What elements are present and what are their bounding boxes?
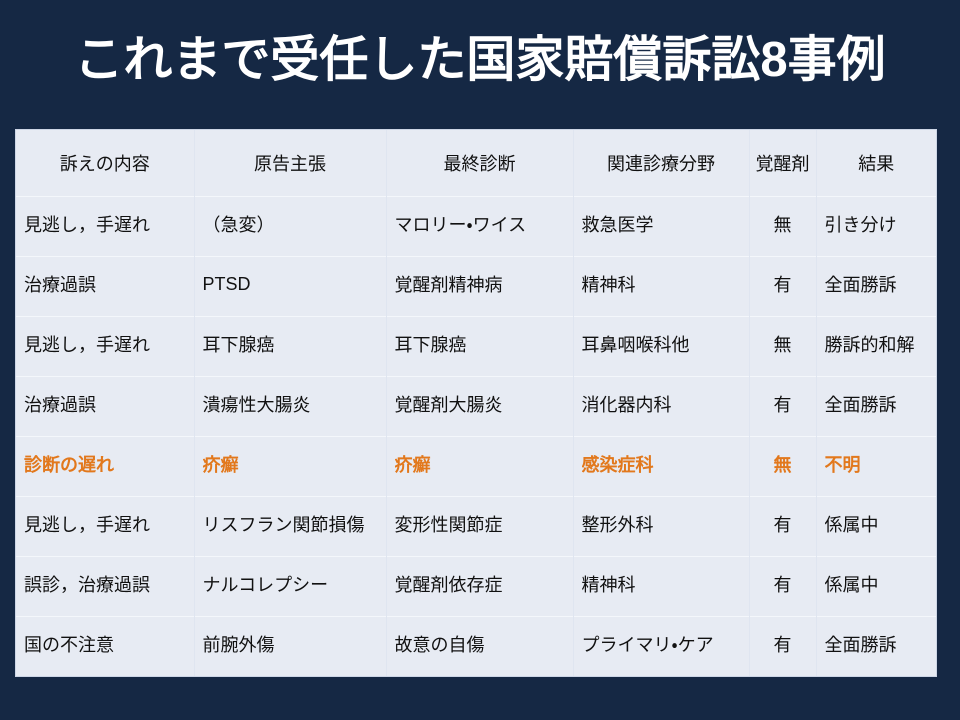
column-header-medical-field: 関連診療分野 bbox=[573, 130, 749, 197]
cell-text: 誤診，治療過誤 bbox=[24, 571, 150, 597]
cell-text: 前腕外傷 bbox=[203, 631, 275, 657]
cell-text: 全面勝訴 bbox=[825, 391, 897, 417]
table-row: 見逃し，手遅れリスフラン関節損傷変形性関節症整形外科有係属中 bbox=[16, 497, 936, 557]
table-cell: 消化器内科 bbox=[573, 377, 749, 437]
column-header-stimulant: 覚醒剤 bbox=[749, 130, 816, 197]
cell-text: 有 bbox=[774, 271, 792, 297]
table-cell: 見逃し，手遅れ bbox=[16, 497, 194, 557]
lawsuit-cases-table: 訴えの内容 原告主張 最終診断 関連診療分野 覚醒剤 結果 見逃し，手遅れ（急変… bbox=[16, 130, 936, 676]
table-row: 見逃し，手遅れ耳下腺癌耳下腺癌耳鼻咽喉科他無勝訴的和解 bbox=[16, 317, 936, 377]
table-cell: 前腕外傷 bbox=[194, 617, 386, 677]
table-cell: 耳下腺癌 bbox=[194, 317, 386, 377]
cell-text: プライマリ・ケア bbox=[582, 631, 714, 657]
page-title: これまで受任した国家賠償訴訟8事例 bbox=[0, 30, 960, 90]
table-row: 治療過誤潰瘍性大腸炎覚醒剤大腸炎消化器内科有全面勝訴 bbox=[16, 377, 936, 437]
cell-text: 有 bbox=[774, 571, 792, 597]
table-cell: 無 bbox=[749, 197, 816, 257]
cell-text: 診断の遅れ bbox=[24, 451, 114, 477]
cell-text: 潰瘍性大腸炎 bbox=[203, 391, 311, 417]
table-cell: 覚醒剤精神病 bbox=[386, 257, 573, 317]
cell-text: 耳下腺癌 bbox=[203, 331, 275, 357]
cell-text: 有 bbox=[774, 391, 792, 417]
table-cell: 係属中 bbox=[816, 497, 936, 557]
table-body: 見逃し，手遅れ（急変）マロリー・ワイス救急医学無引き分け治療過誤PTSD覚醒剤精… bbox=[16, 197, 936, 677]
cell-text: 係属中 bbox=[825, 571, 879, 597]
table-cell: PTSD bbox=[194, 257, 386, 317]
column-header-plaintiff-assertion: 原告主張 bbox=[194, 130, 386, 197]
table-cell: 疥癬 bbox=[194, 437, 386, 497]
cell-text: 整形外科 bbox=[582, 511, 654, 537]
cell-text: 精神科 bbox=[582, 271, 636, 297]
table-row: 診断の遅れ疥癬疥癬感染症科無不明 bbox=[16, 437, 936, 497]
cell-text: 精神科 bbox=[582, 571, 636, 597]
slide-canvas: これまで受任した国家賠償訴訟8事例 訴えの内容 原告主張 最終診断 関連診療分野… bbox=[0, 0, 960, 720]
table-cell: 治療過誤 bbox=[16, 257, 194, 317]
column-header-final-diagnosis: 最終診断 bbox=[386, 130, 573, 197]
table-row: 国の不注意前腕外傷故意の自傷プライマリ・ケア有全面勝訴 bbox=[16, 617, 936, 677]
cell-text: 耳下腺癌 bbox=[395, 331, 467, 357]
cell-text: 無 bbox=[774, 331, 792, 357]
cell-text: リスフラン関節損傷 bbox=[203, 511, 365, 537]
table-cell: 見逃し，手遅れ bbox=[16, 317, 194, 377]
cell-text: 治療過誤 bbox=[24, 271, 96, 297]
table-row: 治療過誤PTSD覚醒剤精神病精神科有全面勝訴 bbox=[16, 257, 936, 317]
cell-text: 勝訴的和解 bbox=[825, 331, 915, 357]
cell-text: 消化器内科 bbox=[582, 391, 672, 417]
cell-text: 有 bbox=[774, 631, 792, 657]
cell-text: 全面勝訴 bbox=[825, 631, 897, 657]
cell-text: 治療過誤 bbox=[24, 391, 96, 417]
cell-text: ナルコレプシー bbox=[203, 571, 329, 597]
table-cell: 誤診，治療過誤 bbox=[16, 557, 194, 617]
table-cell: 耳鼻咽喉科他 bbox=[573, 317, 749, 377]
column-header-claim: 訴えの内容 bbox=[16, 130, 194, 197]
table-row: 誤診，治療過誤ナルコレプシー覚醒剤依存症精神科有係属中 bbox=[16, 557, 936, 617]
table-cell: リスフラン関節損傷 bbox=[194, 497, 386, 557]
table-cell: 治療過誤 bbox=[16, 377, 194, 437]
table-cell: 変形性関節症 bbox=[386, 497, 573, 557]
table-cell: 無 bbox=[749, 437, 816, 497]
cell-text: 係属中 bbox=[825, 511, 879, 537]
table-cell: （急変） bbox=[194, 197, 386, 257]
table-cell: 疥癬 bbox=[386, 437, 573, 497]
cell-text: PTSD bbox=[203, 274, 251, 295]
cell-text: 耳鼻咽喉科他 bbox=[582, 331, 690, 357]
table-cell: 係属中 bbox=[816, 557, 936, 617]
table-header-row: 訴えの内容 原告主張 最終診断 関連診療分野 覚醒剤 結果 bbox=[16, 130, 936, 197]
table-cell: 有 bbox=[749, 377, 816, 437]
case-table-container: 訴えの内容 原告主張 最終診断 関連診療分野 覚醒剤 結果 見逃し，手遅れ（急変… bbox=[16, 130, 936, 676]
table-cell: 救急医学 bbox=[573, 197, 749, 257]
table-cell: 有 bbox=[749, 617, 816, 677]
cell-text: マロリー・ワイス bbox=[395, 211, 527, 237]
cell-text: 故意の自傷 bbox=[395, 631, 485, 657]
table-cell: 国の不注意 bbox=[16, 617, 194, 677]
table-cell: 覚醒剤依存症 bbox=[386, 557, 573, 617]
table-cell: ナルコレプシー bbox=[194, 557, 386, 617]
cell-text: 見逃し，手遅れ bbox=[24, 511, 150, 537]
table-cell: 勝訴的和解 bbox=[816, 317, 936, 377]
cell-text: 覚醒剤大腸炎 bbox=[395, 391, 503, 417]
cell-text: 見逃し，手遅れ bbox=[24, 331, 150, 357]
table-row: 見逃し，手遅れ（急変）マロリー・ワイス救急医学無引き分け bbox=[16, 197, 936, 257]
table-cell: 精神科 bbox=[573, 557, 749, 617]
table-cell: 潰瘍性大腸炎 bbox=[194, 377, 386, 437]
table-cell: 故意の自傷 bbox=[386, 617, 573, 677]
table-cell: 無 bbox=[749, 317, 816, 377]
table-cell: 有 bbox=[749, 497, 816, 557]
cell-text: 引き分け bbox=[825, 211, 897, 237]
table-cell: 有 bbox=[749, 257, 816, 317]
cell-text: 感染症科 bbox=[582, 451, 654, 477]
cell-text: 疥癬 bbox=[395, 451, 431, 477]
cell-text: （急変） bbox=[203, 211, 275, 237]
table-cell: 耳下腺癌 bbox=[386, 317, 573, 377]
cell-text: 不明 bbox=[825, 451, 861, 477]
table-header: 訴えの内容 原告主張 最終診断 関連診療分野 覚醒剤 結果 bbox=[16, 130, 936, 197]
cell-text: 有 bbox=[774, 511, 792, 537]
cell-text: 見逃し，手遅れ bbox=[24, 211, 150, 237]
cell-text: 国の不注意 bbox=[24, 631, 114, 657]
table-cell: 有 bbox=[749, 557, 816, 617]
table-cell: プライマリ・ケア bbox=[573, 617, 749, 677]
table-cell: 引き分け bbox=[816, 197, 936, 257]
table-cell: 見逃し，手遅れ bbox=[16, 197, 194, 257]
table-cell: 感染症科 bbox=[573, 437, 749, 497]
cell-text: 変形性関節症 bbox=[395, 511, 503, 537]
table-cell: 全面勝訴 bbox=[816, 377, 936, 437]
table-cell: 全面勝訴 bbox=[816, 257, 936, 317]
cell-text: 救急医学 bbox=[582, 211, 654, 237]
column-header-result: 結果 bbox=[816, 130, 936, 197]
table-cell: 精神科 bbox=[573, 257, 749, 317]
table-cell: マロリー・ワイス bbox=[386, 197, 573, 257]
table-cell: 全面勝訴 bbox=[816, 617, 936, 677]
cell-text: 無 bbox=[774, 451, 792, 477]
cell-text: 全面勝訴 bbox=[825, 271, 897, 297]
table-cell: 診断の遅れ bbox=[16, 437, 194, 497]
table-cell: 覚醒剤大腸炎 bbox=[386, 377, 573, 437]
cell-text: 無 bbox=[774, 211, 792, 237]
table-cell: 不明 bbox=[816, 437, 936, 497]
cell-text: 覚醒剤依存症 bbox=[395, 571, 503, 597]
table-cell: 整形外科 bbox=[573, 497, 749, 557]
cell-text: 覚醒剤精神病 bbox=[395, 271, 503, 297]
cell-text: 疥癬 bbox=[203, 451, 239, 477]
